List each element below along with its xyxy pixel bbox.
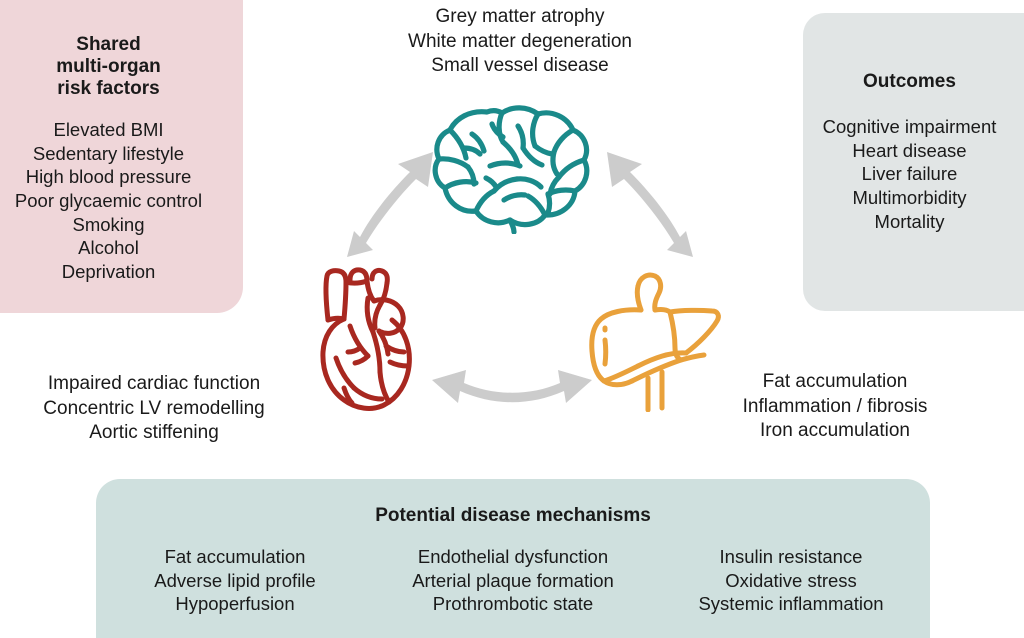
list-item: Alcohol	[0, 236, 217, 260]
list-item: Prothrombotic state	[374, 592, 652, 616]
list-item: Multimorbidity	[803, 186, 1016, 210]
heart-caption: Impaired cardiac function Concentric LV …	[8, 372, 300, 446]
list-item: Cognitive impairment	[803, 115, 1016, 139]
list-item: Elevated BMI	[0, 118, 217, 142]
list-item: Liver failure	[803, 162, 1016, 186]
list-item: Hypoperfusion	[96, 592, 374, 616]
list-item: Oxidative stress	[652, 569, 930, 593]
risk-factors-panel: Shared multi-organ risk factors Elevated…	[0, 0, 243, 313]
list-item: High blood pressure	[0, 165, 217, 189]
brain-icon	[428, 104, 600, 234]
list-item: Poor glycaemic control	[0, 189, 217, 213]
list-item: Mortality	[803, 210, 1016, 234]
risk-factors-title-line: risk factors	[0, 78, 217, 100]
heart-caption-line: Impaired cardiac function	[8, 372, 300, 397]
brain-caption: Grey matter atrophy White matter degener…	[372, 5, 668, 79]
outcomes-content: Outcomes Cognitive impairment Heart dise…	[803, 13, 1016, 233]
diagram-canvas: Shared multi-organ risk factors Elevated…	[0, 0, 1024, 638]
risk-factors-title: Shared multi-organ risk factors	[0, 34, 217, 100]
outcomes-list: Cognitive impairment Heart disease Liver…	[803, 115, 1016, 233]
list-item: Heart disease	[803, 139, 1016, 163]
brain-caption-line: Grey matter atrophy	[372, 5, 668, 30]
mechanisms-column: Insulin resistance Oxidative stress Syst…	[652, 545, 930, 616]
risk-factors-list: Elevated BMI Sedentary lifestyle High bl…	[0, 118, 217, 284]
mechanisms-columns: Fat accumulation Adverse lipid profile H…	[96, 545, 930, 616]
list-item: Systemic inflammation	[652, 592, 930, 616]
list-item: Deprivation	[0, 260, 217, 284]
mechanisms-panel: Potential disease mechanisms Fat accumul…	[96, 479, 930, 638]
heart-caption-line: Aortic stiffening	[8, 421, 300, 446]
risk-factors-title-line: multi-organ	[0, 56, 217, 78]
liver-caption-line: Iron accumulation	[708, 419, 962, 444]
liver-icon	[578, 268, 730, 412]
outcomes-title: Outcomes	[803, 71, 1016, 93]
list-item: Insulin resistance	[652, 545, 930, 569]
risk-factors-title-line: Shared	[0, 34, 217, 56]
list-item: Sedentary lifestyle	[0, 142, 217, 166]
bidirectional-arrow-brain-liver-icon	[586, 138, 706, 264]
heart-caption-line: Concentric LV remodelling	[8, 397, 300, 422]
mechanisms-column: Endothelial dysfunction Arterial plaque …	[374, 545, 652, 616]
list-item: Arterial plaque formation	[374, 569, 652, 593]
mechanisms-title: Potential disease mechanisms	[96, 505, 930, 527]
liver-caption-line: Fat accumulation	[708, 370, 962, 395]
list-item: Adverse lipid profile	[96, 569, 374, 593]
liver-caption-line: Inflammation / fibrosis	[708, 395, 962, 420]
list-item: Fat accumulation	[96, 545, 374, 569]
list-item: Smoking	[0, 213, 217, 237]
heart-icon	[306, 262, 436, 414]
brain-caption-line: Small vessel disease	[372, 54, 668, 79]
bidirectional-arrow-heart-liver-icon	[424, 362, 600, 432]
outcomes-panel: Outcomes Cognitive impairment Heart dise…	[803, 13, 1024, 311]
liver-caption: Fat accumulation Inflammation / fibrosis…	[708, 370, 962, 444]
mechanisms-column: Fat accumulation Adverse lipid profile H…	[96, 545, 374, 616]
list-item: Endothelial dysfunction	[374, 545, 652, 569]
brain-caption-line: White matter degeneration	[372, 30, 668, 55]
